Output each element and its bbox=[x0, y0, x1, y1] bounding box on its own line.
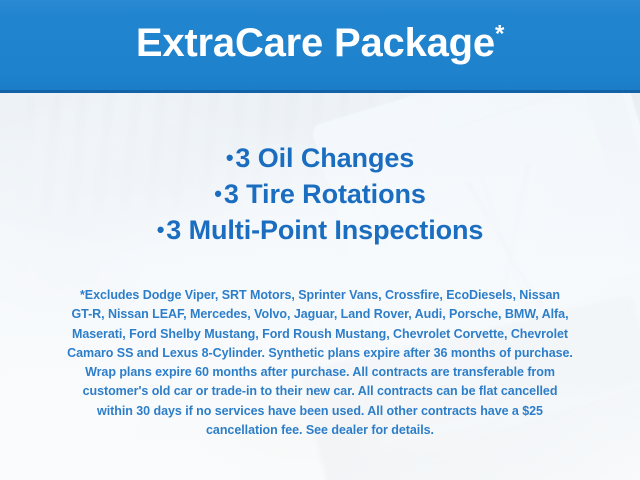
bullet-dot-icon: • bbox=[157, 217, 167, 242]
fine-print-line: Camaro SS and Lexus 8-Cylinder. Syntheti… bbox=[24, 344, 616, 363]
header-underline-rule bbox=[0, 90, 640, 93]
fine-print-disclaimer: *Excludes Dodge Viper, SRT Motors, Sprin… bbox=[24, 286, 616, 440]
page-title: ExtraCare Package* bbox=[136, 23, 504, 67]
title-asterisk: * bbox=[495, 21, 504, 48]
bullet-dot-icon: • bbox=[226, 145, 236, 170]
bullet-dot-icon: • bbox=[214, 181, 224, 206]
fine-print-line: cancellation fee. See dealer for details… bbox=[24, 421, 616, 440]
fine-print-line: within 30 days if no services have been … bbox=[24, 402, 616, 421]
fine-print-line: customer's old car or trade-in to their … bbox=[24, 382, 616, 401]
fine-print-line: GT-R, Nissan LEAF, Mercedes, Volvo, Jagu… bbox=[24, 305, 616, 324]
page-title-text: ExtraCare Package bbox=[136, 21, 495, 65]
extracare-package-ad: ExtraCare Package* •3 Oil Changes •3 Tir… bbox=[0, 0, 640, 480]
list-item: •3 Oil Changes bbox=[0, 140, 640, 176]
benefits-list: •3 Oil Changes •3 Tire Rotations •3 Mult… bbox=[0, 140, 640, 248]
list-item-label: 3 Multi-Point Inspections bbox=[166, 215, 483, 245]
fine-print-line: Wrap plans expire 60 months after purcha… bbox=[24, 363, 616, 382]
list-item: •3 Multi-Point Inspections bbox=[0, 212, 640, 248]
list-item: •3 Tire Rotations bbox=[0, 176, 640, 212]
header-bar: ExtraCare Package* bbox=[0, 0, 640, 90]
fine-print-line: Maserati, Ford Shelby Mustang, Ford Rous… bbox=[24, 325, 616, 344]
list-item-label: 3 Oil Changes bbox=[235, 143, 414, 173]
fine-print-line: *Excludes Dodge Viper, SRT Motors, Sprin… bbox=[24, 286, 616, 305]
list-item-label: 3 Tire Rotations bbox=[224, 179, 426, 209]
